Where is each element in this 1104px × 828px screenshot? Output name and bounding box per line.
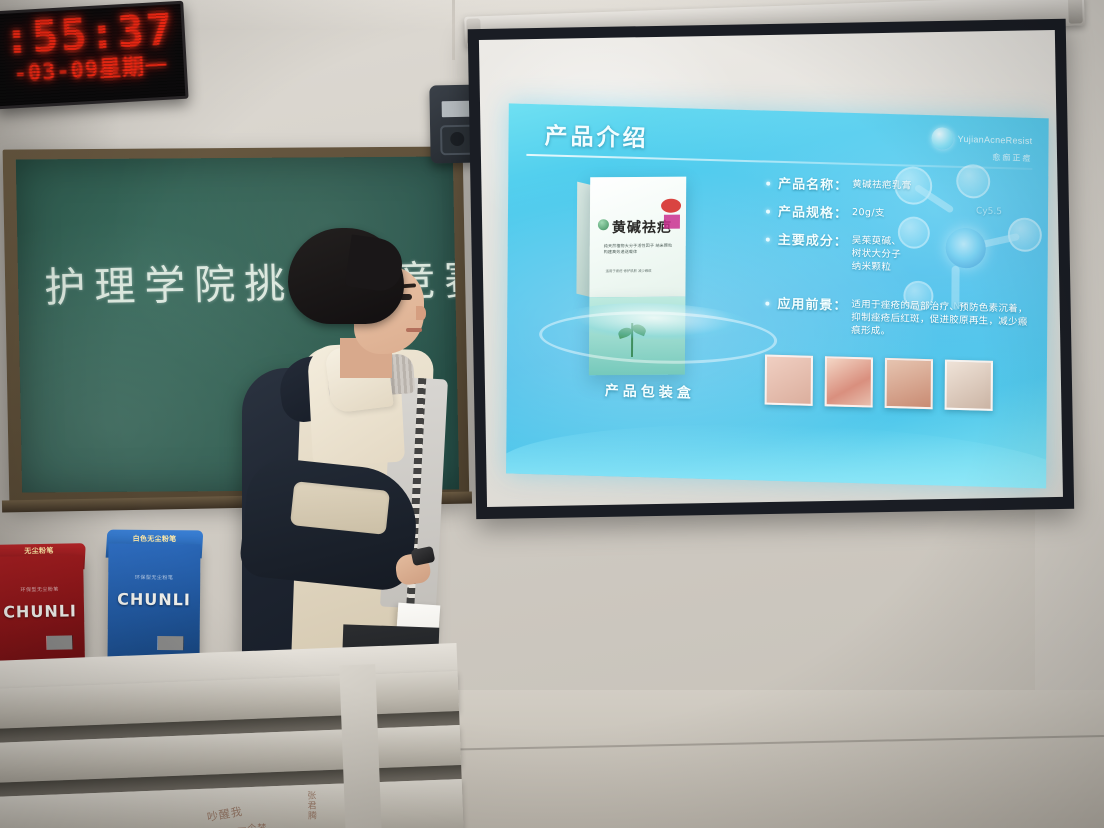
screen-border: 产品介绍 YujianAcneResist 愈痂正痘 黄碱祛疤 [468, 19, 1074, 519]
chalk-box-brand: CHUNLI [0, 601, 84, 622]
platform-post [339, 664, 382, 828]
podium-platform: 吵醒我 一个梦 张君腾 [0, 643, 463, 828]
chalk-box-top-text: 白色无尘粉笔 [115, 534, 195, 545]
chalk-box-front: 无尘粉笔 环保型无尘粉笔 CHUNLI [0, 555, 85, 661]
presenter [236, 228, 466, 698]
leaf-icon [598, 219, 609, 230]
brand-mark-icon [932, 127, 954, 150]
clock-led-grid [0, 4, 185, 106]
chalk-box-front: 白色无尘粉笔 环保型无尘粉笔 CHUNLI [107, 544, 200, 661]
chalk-box-subtext: 环保型无尘粉笔 [108, 574, 200, 582]
classroom-photo: :55:37 -03-09星期一 护理学院挑战杯竞赛 [0, 0, 1104, 828]
projected-slide: 产品介绍 YujianAcneResist 愈痂正痘 黄碱祛疤 [506, 103, 1048, 488]
brand-logo: YujianAcneResist 愈痂正痘 [932, 127, 1033, 164]
bullet-label: 产品名称： [778, 173, 848, 194]
classroom-floor [430, 690, 1104, 828]
product-box-subline2: 适用于痤疮 修护肌肤 减少瘢痕 [606, 269, 672, 274]
bullet-dot-icon [766, 238, 770, 242]
product-image-caption: 产品包装盒 [605, 380, 695, 403]
bullet-value: 黄碱祛疤乳膏 [852, 178, 911, 193]
bullet-label: 产品规格： [778, 201, 848, 222]
case-endcap-right [1068, 0, 1083, 24]
bullet-item: 产品规格： 20g/支 [766, 201, 1036, 228]
bullet-dot-icon [765, 302, 769, 306]
bullet-dot-icon [766, 210, 770, 214]
slide-bullet-list: 产品名称： 黄碱祛疤乳膏 产品规格： 20g/支 主要成分： 吴茱萸碱、 树状大… [766, 173, 1037, 288]
chalk-box-top-text: 无尘粉笔 [1, 545, 77, 556]
prospect-block: 应用前景： 适用于痤疮的局部治疗、预防色素沉着，抑制痤疮后红斑，促进胶原再生，减… [765, 293, 1037, 343]
led-clock: :55:37 -03-09星期一 [0, 1, 189, 110]
chalk-box-blue: 白色无尘粉笔 环保型无尘粉笔 CHUNLI [107, 544, 200, 661]
slide-wave-decor [506, 417, 1048, 488]
bullet-value: 吴茱萸碱、 树状大分子 纳米颗粒 [852, 234, 902, 274]
clinical-photo-strip [765, 355, 1037, 413]
barcode-icon [158, 636, 184, 650]
graffiti-text: 一个梦 [237, 820, 267, 828]
clinical-photo-3 [885, 358, 933, 409]
chalk-box-brand: CHUNLI [108, 590, 200, 610]
product-stamp-icon [661, 199, 681, 213]
chalk-box-subtext: 环保型无尘粉笔 [0, 585, 84, 594]
barcode-icon [46, 635, 72, 649]
screen-surface: 产品介绍 YujianAcneResist 愈痂正痘 黄碱祛疤 [479, 30, 1063, 507]
projection-screen: 产品介绍 YujianAcneResist 愈痂正痘 黄碱祛疤 [449, 3, 1094, 526]
bullet-item: 主要成分： 吴茱萸碱、 树状大分子 纳米颗粒 [766, 229, 1036, 279]
prospect-text: 适用于痤疮的局部治疗、预防色素沉着，抑制痤疮后红斑，促进胶原再生，减少瘢痕形成。 [851, 298, 1037, 342]
chalk-box-red: 无尘粉笔 环保型无尘粉笔 CHUNLI [0, 555, 85, 661]
clinical-photo-1 [765, 355, 813, 406]
bullet-dot-icon [766, 182, 770, 186]
graffiti-text: 张君腾 [304, 791, 318, 821]
slide-title: 产品介绍 [544, 116, 648, 153]
bullet-value: 20g/支 [852, 206, 885, 220]
product-box-face: 黄碱祛疤 纯天然植物大分子活性因子 纳米颗粒构建高效递送载体 适用于痤疮 修护肌… [589, 177, 686, 298]
presenter-mouth [406, 328, 422, 332]
product-stamp2-icon [664, 215, 680, 229]
product-box-subline: 纯天然植物大分子活性因子 纳米颗粒构建高效递送载体 [604, 243, 674, 255]
bullet-label: 主要成分： [778, 229, 848, 250]
brand-name-en: YujianAcneResist [958, 134, 1033, 146]
clinical-photo-4 [945, 360, 993, 411]
product-box-image: 黄碱祛疤 纯天然植物大分子活性因子 纳米颗粒构建高效递送载体 适用于痤疮 修护肌… [589, 177, 686, 298]
presenter-nose [416, 306, 426, 320]
prospect-label: 应用前景： [777, 293, 847, 337]
clinical-photo-2 [825, 356, 873, 407]
